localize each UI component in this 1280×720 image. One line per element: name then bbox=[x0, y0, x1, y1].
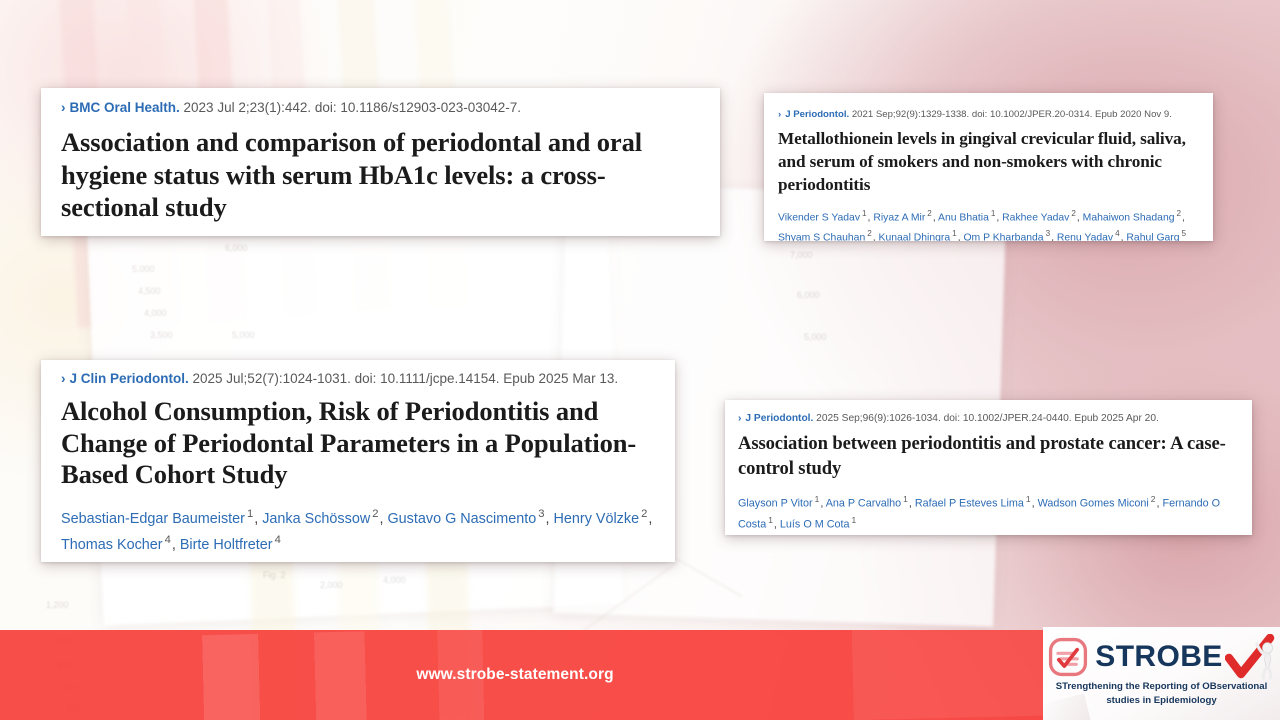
publication-title[interactable]: Alcohol Consumption, Risk of Periodontit… bbox=[41, 387, 675, 491]
author-affiliation-superscript: 4 bbox=[275, 534, 281, 546]
author-affiliation-superscript: 2 bbox=[372, 508, 378, 520]
publication-card[interactable]: ›BMC Oral Health. 2023 Jul 2;23(1):442. … bbox=[41, 88, 720, 236]
publication-card[interactable]: ›J Clin Periodontol. 2025 Jul;52(7):1024… bbox=[41, 360, 675, 562]
author-affiliation-superscript: 3 bbox=[1046, 229, 1051, 238]
citation-details: 2025 Sep;96(9):1026-1034. doi: 10.1002/J… bbox=[813, 413, 1159, 424]
author-link[interactable]: Henry Völzke bbox=[554, 510, 640, 526]
author-link[interactable]: Birte Holtfreter bbox=[180, 537, 273, 553]
author-link[interactable]: Vikender S Yadav bbox=[778, 212, 860, 223]
chevron-right-icon[interactable]: › bbox=[778, 109, 781, 120]
strobe-logo-panel[interactable]: STROBE STrengthening the Reporting of OB… bbox=[1043, 627, 1280, 720]
author-separator: , bbox=[172, 537, 180, 553]
citation-line: ›J Periodontol. 2021 Sep;92(9):1329-1338… bbox=[764, 93, 1213, 121]
background-axis-number: 4,500 bbox=[138, 286, 161, 296]
citation-details: 2021 Sep;92(9):1329-1338. doi: 10.1002/J… bbox=[849, 109, 1172, 120]
author-affiliation-superscript: 5 bbox=[1182, 229, 1187, 238]
citation-line: ›BMC Oral Health. 2023 Jul 2;23(1):442. … bbox=[41, 88, 720, 116]
author-affiliation-superscript: 2 bbox=[867, 229, 872, 238]
author-separator: , bbox=[546, 510, 554, 526]
author-link[interactable]: Riyaz A Mir bbox=[873, 212, 925, 223]
citation-details: 2023 Jul 2;23(1):442. doi: 10.1186/s1290… bbox=[180, 100, 521, 115]
author-link[interactable]: Glayson P Vitor bbox=[738, 498, 813, 510]
author-separator: , bbox=[648, 510, 652, 526]
author-affiliation-superscript: 1 bbox=[247, 508, 253, 520]
chevron-right-icon[interactable]: › bbox=[61, 371, 66, 386]
author-affiliation-superscript: 1 bbox=[952, 229, 957, 238]
author-link[interactable]: Sebastian-Edgar Baumeister bbox=[61, 510, 245, 526]
background-axis-number: 5,000 bbox=[132, 264, 155, 274]
background-axis-number: 6,000 bbox=[225, 243, 248, 253]
citation-line: ›J Clin Periodontol. 2025 Jul;52(7):1024… bbox=[41, 360, 675, 387]
publication-card[interactable]: ›J Periodontol. 2021 Sep;92(9):1329-1338… bbox=[764, 93, 1213, 241]
background-axis-number: 3,500 bbox=[150, 330, 173, 340]
footer-website-url[interactable]: www.strobe-statement.org bbox=[0, 630, 1030, 720]
strobe-tagline: STrengthening the Reporting of OBservati… bbox=[1047, 680, 1276, 707]
journal-name-link[interactable]: J Periodontol. bbox=[745, 413, 813, 424]
author-link[interactable]: Rafael P Esteves Lima bbox=[915, 498, 1024, 510]
publication-card[interactable]: ›J Periodontol. 2025 Sep;96(9):1026-1034… bbox=[725, 400, 1252, 535]
author-link[interactable]: Luís O M Cota bbox=[780, 519, 850, 531]
author-affiliation-superscript: 2 bbox=[1071, 209, 1076, 218]
author-affiliation-superscript: 1 bbox=[768, 515, 773, 525]
author-affiliation-superscript: 1 bbox=[903, 494, 908, 504]
strobe-figure-icon bbox=[1257, 643, 1273, 678]
author-affiliation-superscript: 4 bbox=[165, 534, 171, 546]
journal-name-link[interactable]: J Clin Periodontol. bbox=[70, 371, 189, 386]
background-axis-number: 1,200 bbox=[46, 600, 69, 610]
author-link[interactable]: Wadson Gomes Miconi bbox=[1038, 498, 1149, 510]
background-axis-number: 6,000 bbox=[797, 290, 820, 300]
author-link[interactable]: Rahul Garg bbox=[1126, 232, 1179, 241]
author-affiliation-superscript: 1 bbox=[1026, 494, 1031, 504]
author-link[interactable]: Gustavo G Nascimento bbox=[387, 510, 536, 526]
author-list: Vikender S Yadav1, Riyaz A Mir2, Anu Bha… bbox=[764, 196, 1213, 241]
author-affiliation-superscript: 2 bbox=[641, 508, 647, 520]
author-link[interactable]: Anu Bhatia bbox=[938, 212, 989, 223]
author-link[interactable]: Om P Kharbanda bbox=[963, 232, 1043, 241]
author-affiliation-superscript: 1 bbox=[852, 515, 857, 525]
author-link[interactable]: Renu Yadav bbox=[1057, 232, 1113, 241]
author-link[interactable]: Mahaiwon Shadang bbox=[1083, 212, 1175, 223]
strobe-tagline-line2: studies in Epidemiology bbox=[1106, 695, 1216, 706]
publication-title[interactable]: Association and comparison of periodonta… bbox=[41, 116, 720, 224]
author-separator: , bbox=[1182, 212, 1185, 223]
author-link[interactable]: Thomas Kocher bbox=[61, 537, 163, 553]
author-list: Glayson P Vitor1, Ana P Carvalho1, Rafae… bbox=[725, 481, 1252, 533]
strobe-mark-icon bbox=[1046, 635, 1090, 679]
author-affiliation-superscript: 4 bbox=[1115, 229, 1120, 238]
author-affiliation-superscript: 2 bbox=[1177, 209, 1182, 218]
chevron-right-icon[interactable]: › bbox=[61, 100, 66, 115]
author-affiliation-superscript: 2 bbox=[927, 209, 932, 218]
strobe-wordmark: STROBE bbox=[1095, 642, 1222, 672]
author-link[interactable]: Janka Schössow bbox=[262, 510, 370, 526]
background-axis-number: 2,000 bbox=[320, 580, 343, 590]
background-axis-number: Fig. 2 bbox=[263, 570, 286, 580]
journal-name-link[interactable]: J Periodontol. bbox=[785, 109, 849, 120]
background-axis-number: 5,000 bbox=[232, 330, 255, 340]
author-affiliation-superscript: 1 bbox=[815, 494, 820, 504]
author-link[interactable]: Ana P Carvalho bbox=[826, 498, 901, 510]
journal-name-link[interactable]: BMC Oral Health. bbox=[70, 100, 180, 115]
author-link[interactable]: Shyam S Chauhan bbox=[778, 232, 865, 241]
background-axis-number: 4,000 bbox=[383, 575, 406, 585]
background-axis-number: 7,000 bbox=[790, 250, 813, 260]
author-list: Sebastian-Edgar Baumeister1, Janka Schös… bbox=[41, 491, 675, 557]
strobe-logo-row: STROBE bbox=[1043, 633, 1280, 681]
author-affiliation-superscript: 1 bbox=[991, 209, 996, 218]
strobe-checkmark-icon bbox=[1225, 634, 1277, 680]
background-axis-number: 5,000 bbox=[804, 332, 827, 342]
author-affiliation-superscript: 2 bbox=[1151, 494, 1156, 504]
author-affiliation-superscript: 3 bbox=[538, 508, 544, 520]
chevron-right-icon[interactable]: › bbox=[738, 413, 741, 424]
publication-title[interactable]: Metallothionein levels in gingival crevi… bbox=[764, 121, 1213, 196]
author-link[interactable]: Kunaal Dhingra bbox=[879, 232, 951, 241]
publication-title[interactable]: Association between periodontitis and pr… bbox=[725, 425, 1252, 481]
citation-details: 2025 Jul;52(7):1024-1031. doi: 10.1111/j… bbox=[189, 371, 618, 386]
citation-line: ›J Periodontol. 2025 Sep;96(9):1026-1034… bbox=[725, 400, 1252, 425]
author-link[interactable]: Rakhee Yadav bbox=[1002, 212, 1069, 223]
strobe-tagline-line1: STrengthening the Reporting of OBservati… bbox=[1056, 681, 1268, 692]
background-axis-number: 4,000 bbox=[144, 308, 167, 318]
slide-canvas: 5,000 4,500 4,000 3,500 5,000 6,000 7,00… bbox=[0, 0, 1280, 720]
author-affiliation-superscript: 1 bbox=[862, 209, 867, 218]
